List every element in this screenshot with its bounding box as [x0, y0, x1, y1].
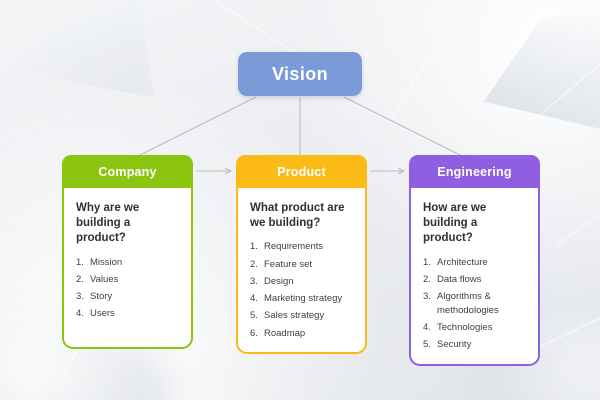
list-item: 6. Roadmap	[250, 327, 354, 341]
list-item-label: Design	[264, 276, 294, 287]
card-company-list: 1. Mission 2. Values 3. Story 4. Users	[76, 256, 180, 322]
list-item-label: Algorithms & methodologies	[437, 291, 499, 316]
card-company-title: Company	[98, 165, 156, 179]
list-item-label: Mission	[90, 257, 122, 268]
list-item-label: Requirements	[264, 241, 323, 252]
list-item: 4. Technologies	[423, 321, 527, 335]
list-item-number: 2.	[76, 273, 84, 287]
list-item-label: Technologies	[437, 322, 492, 333]
list-item-label: Roadmap	[264, 328, 305, 339]
list-item: 1. Requirements	[250, 240, 354, 254]
list-item: 5. Sales strategy	[250, 309, 354, 323]
list-item: 5. Security	[423, 338, 527, 352]
connector-vision-company	[140, 97, 256, 155]
list-item-number: 4.	[423, 321, 431, 335]
node-vision[interactable]: Vision	[238, 52, 362, 96]
card-product-question: What product are we building?	[250, 201, 354, 231]
card-company[interactable]: Company Why are we building a product? 1…	[62, 155, 193, 349]
card-company-body: Why are we building a product? 1. Missio…	[62, 188, 193, 349]
card-company-question: Why are we building a product?	[76, 201, 180, 247]
list-item-label: Sales strategy	[264, 310, 324, 321]
card-company-header: Company	[62, 155, 193, 188]
list-item: 3. Story	[76, 290, 180, 304]
list-item-number: 3.	[423, 290, 431, 304]
list-item-number: 1.	[250, 240, 258, 254]
list-item-label: Values	[90, 274, 118, 285]
card-engineering-header: Engineering	[409, 155, 540, 188]
list-item-number: 3.	[76, 290, 84, 304]
list-item-number: 6.	[250, 327, 258, 341]
list-item-label: Security	[437, 339, 471, 350]
card-product[interactable]: Product What product are we building? 1.…	[236, 155, 367, 349]
list-item-label: Feature set	[264, 259, 312, 270]
list-item: 1. Mission	[76, 256, 180, 270]
list-item-number: 3.	[250, 275, 258, 289]
list-item: 4. Users	[76, 307, 180, 321]
list-item: 2. Values	[76, 273, 180, 287]
list-item: 2. Data flows	[423, 273, 527, 287]
list-item-label: Architecture	[437, 257, 488, 268]
list-item-number: 5.	[250, 309, 258, 323]
list-item-number: 2.	[250, 258, 258, 272]
list-item-label: Data flows	[437, 274, 481, 285]
list-item-number: 1.	[423, 256, 431, 270]
list-item: 2. Feature set	[250, 258, 354, 272]
list-item-number: 2.	[423, 273, 431, 287]
card-product-body: What product are we building? 1. Require…	[236, 188, 367, 354]
card-product-title: Product	[277, 165, 326, 179]
list-item: 1. Architecture	[423, 256, 527, 270]
node-vision-label: Vision	[272, 64, 328, 85]
list-item-label: Users	[90, 308, 115, 319]
list-item-number: 4.	[250, 292, 258, 306]
card-engineering-question: How are we building a product?	[423, 201, 527, 247]
list-item: 3. Algorithms & methodologies	[423, 290, 527, 318]
card-product-header: Product	[236, 155, 367, 188]
list-item-number: 1.	[76, 256, 84, 270]
card-engineering-list: 1. Architecture 2. Data flows 3. Algorit…	[423, 256, 527, 353]
list-item-number: 5.	[423, 338, 431, 352]
diagram-canvas: Vision Company Why are we building a pro…	[0, 0, 600, 400]
card-engineering[interactable]: Engineering How are we building a produc…	[409, 155, 540, 349]
list-item-number: 4.	[76, 307, 84, 321]
list-item: 3. Design	[250, 275, 354, 289]
list-item-label: Marketing strategy	[264, 293, 342, 304]
list-item: 4. Marketing strategy	[250, 292, 354, 306]
card-engineering-body: How are we building a product? 1. Archit…	[409, 188, 540, 366]
card-product-list: 1. Requirements 2. Feature set 3. Design…	[250, 240, 354, 340]
card-engineering-title: Engineering	[437, 165, 511, 179]
list-item-label: Story	[90, 291, 112, 302]
connector-vision-engineering	[344, 97, 460, 155]
